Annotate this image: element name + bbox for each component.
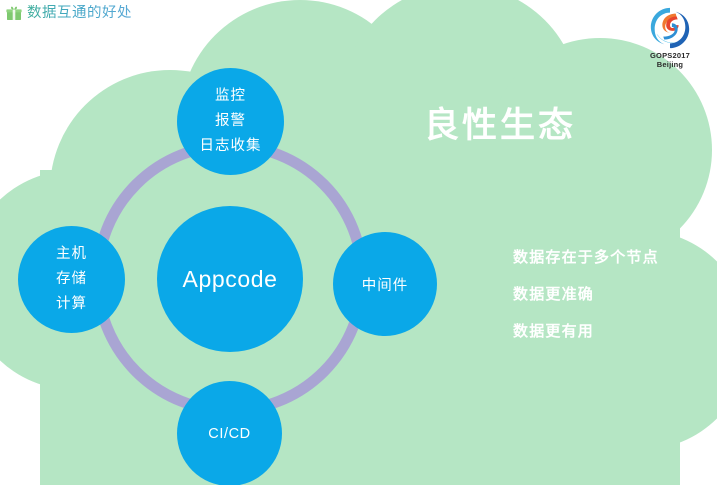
node-monitoring-line-1: 监控 bbox=[215, 84, 246, 109]
node-infrastructure-line-3: 计算 bbox=[56, 292, 87, 317]
slide-header: 数据互通的好处 bbox=[6, 2, 132, 24]
slide-canvas: Appcode 监控 报警 日志收集 主机 存储 计算 中间件 CI/CD 良性… bbox=[0, 0, 717, 485]
node-cicd[interactable]: CI/CD bbox=[177, 381, 282, 485]
benefit-item-1: 数据存在于多个节点 bbox=[513, 250, 659, 266]
node-infrastructure[interactable]: 主机 存储 计算 bbox=[18, 226, 125, 333]
node-monitoring[interactable]: 监控 报警 日志收集 bbox=[177, 68, 284, 175]
gops-logo: GOPS2017 Beijing bbox=[637, 5, 703, 69]
eco-title: 良性生态 bbox=[424, 97, 576, 148]
node-appcode-label: Appcode bbox=[183, 266, 278, 293]
node-monitoring-line-3: 日志收集 bbox=[200, 134, 262, 159]
node-appcode[interactable]: Appcode bbox=[157, 206, 303, 352]
node-infrastructure-line-1: 主机 bbox=[56, 242, 87, 267]
benefit-item-2: 数据更准确 bbox=[513, 287, 659, 303]
benefits-list: 数据存在于多个节点 数据更准确 数据更有用 bbox=[513, 250, 659, 340]
benefit-item-3: 数据更有用 bbox=[513, 324, 659, 340]
node-middleware[interactable]: 中间件 bbox=[333, 232, 437, 336]
node-cicd-label: CI/CD bbox=[208, 426, 250, 442]
node-middleware-label: 中间件 bbox=[362, 274, 409, 295]
node-monitoring-line-2: 报警 bbox=[215, 109, 246, 134]
gops-logo-line-1: GOPS2017 bbox=[650, 51, 690, 60]
gift-icon bbox=[6, 5, 22, 21]
gops-swirl-logo bbox=[647, 5, 693, 51]
node-infrastructure-line-2: 存储 bbox=[56, 267, 87, 292]
gops-logo-line-2: Beijing bbox=[657, 60, 683, 69]
header-title: 数据互通的好处 bbox=[27, 5, 132, 21]
